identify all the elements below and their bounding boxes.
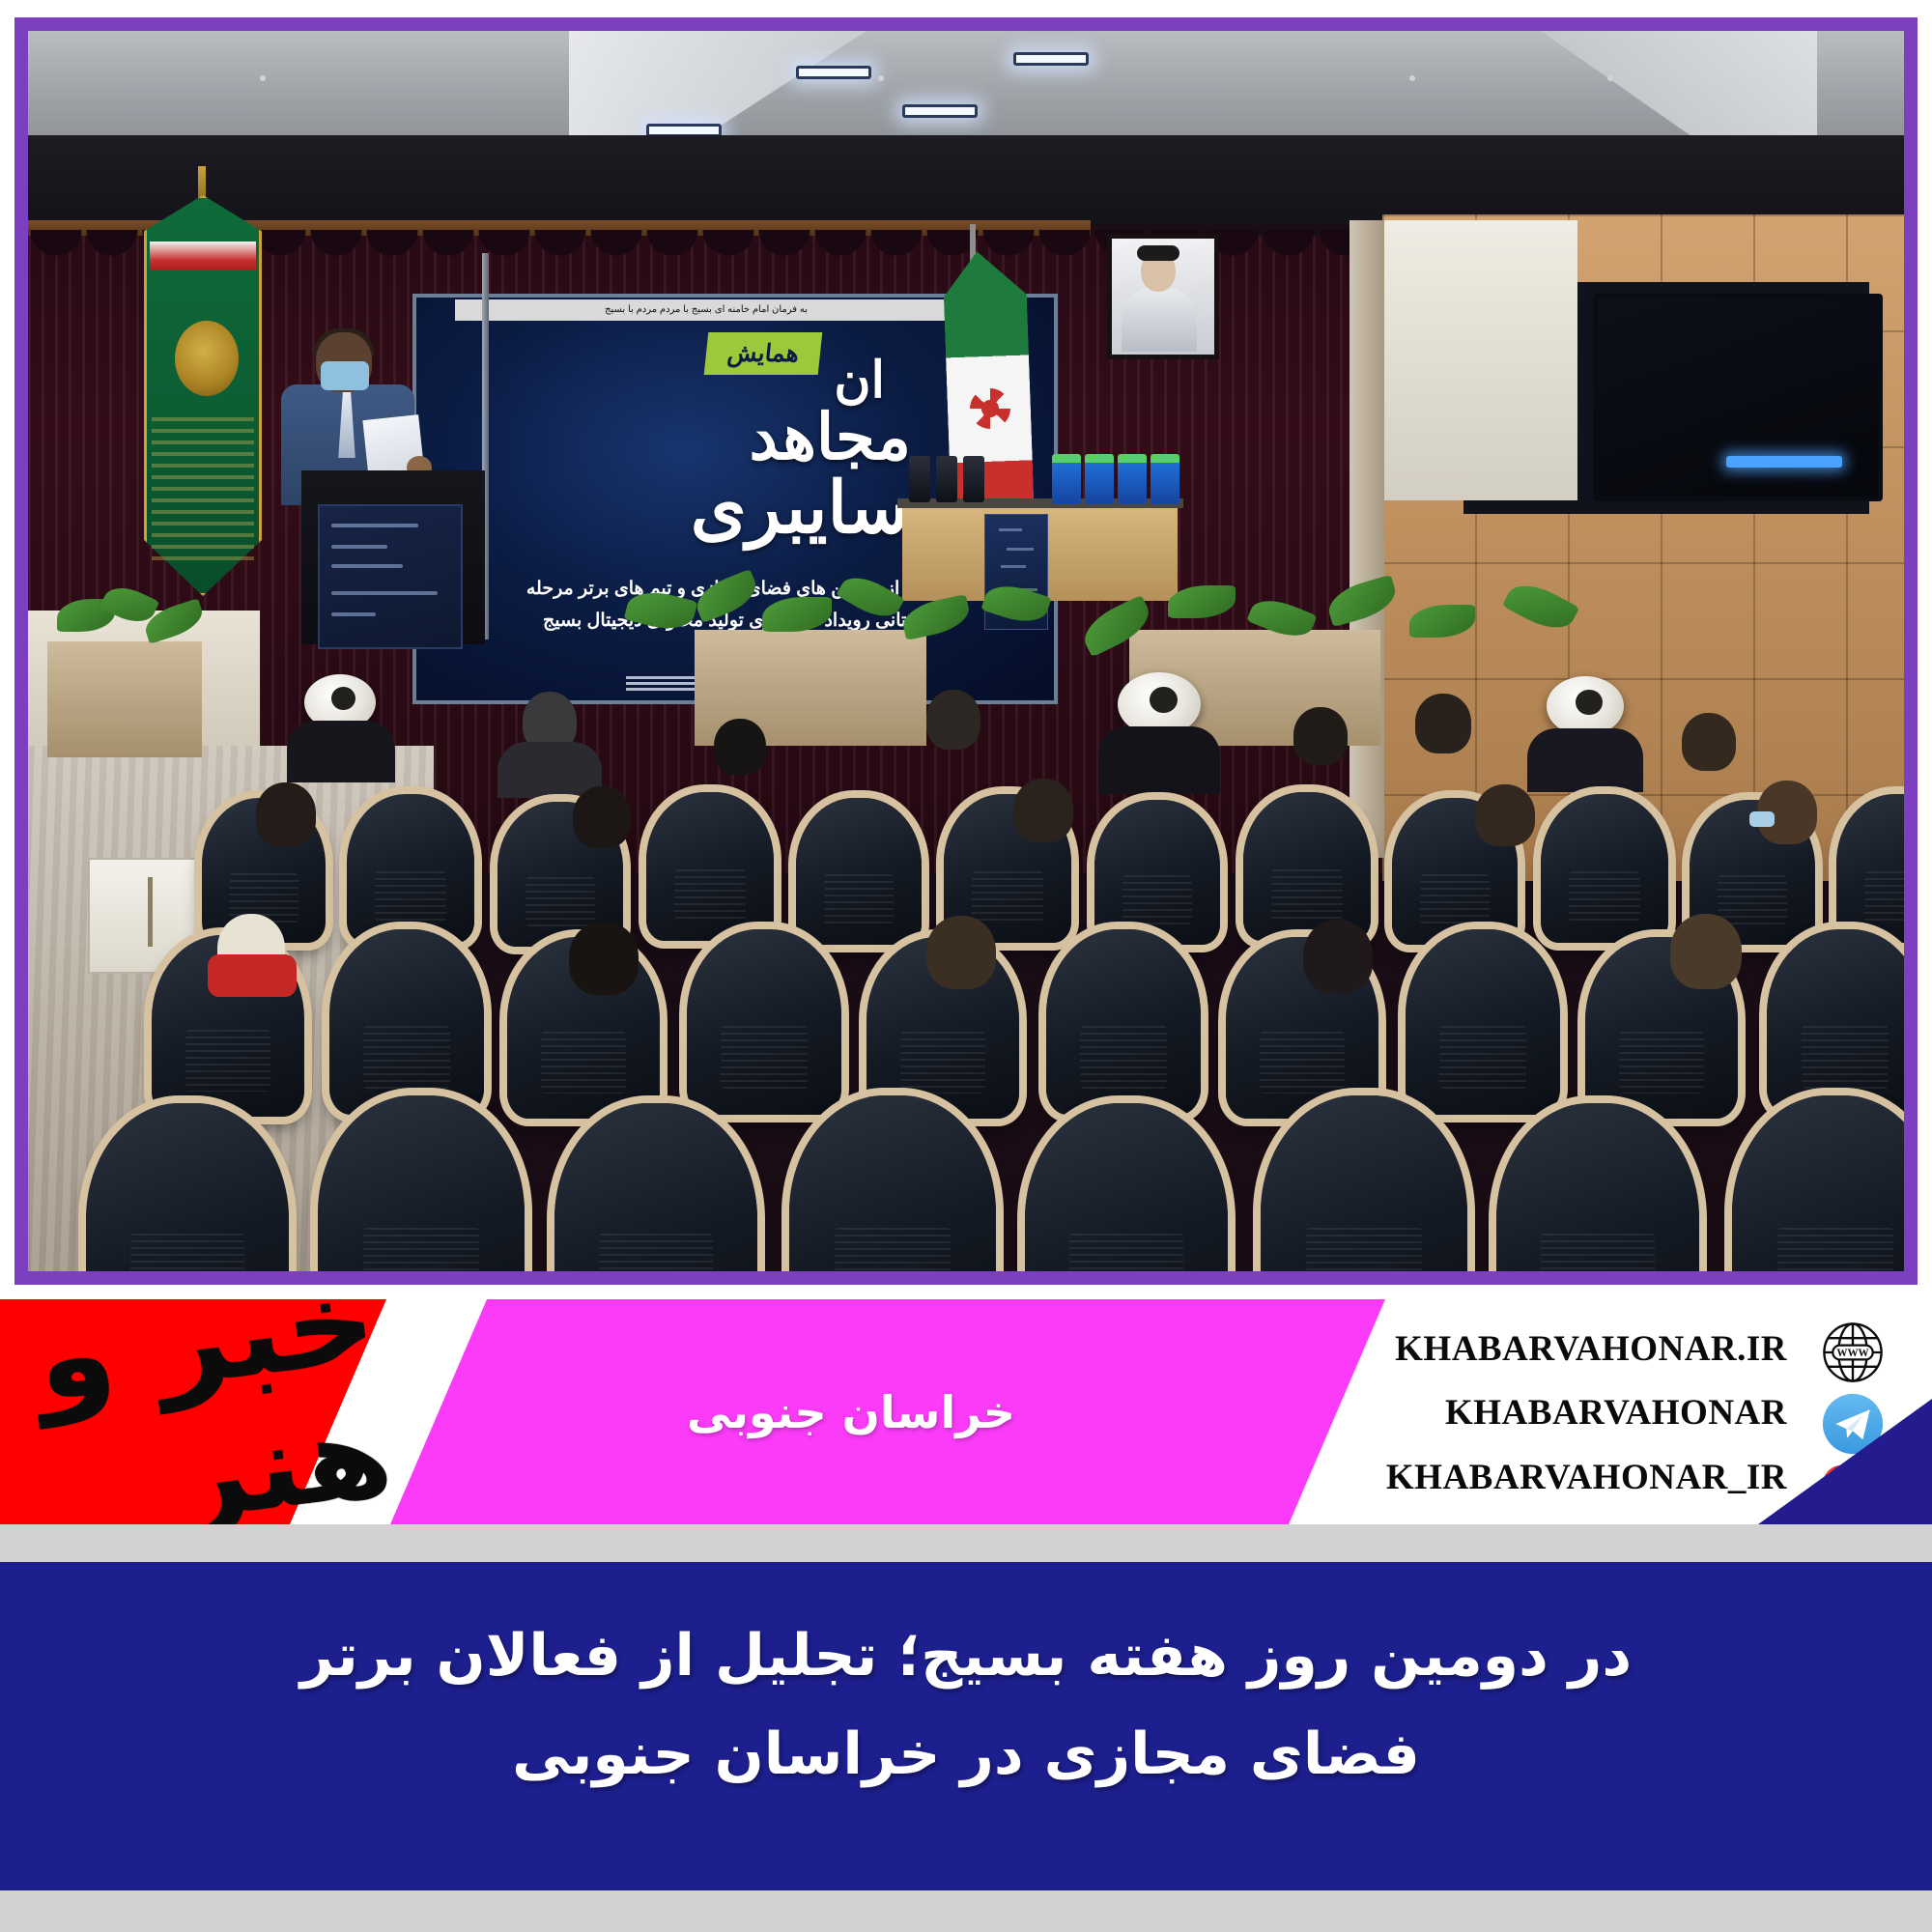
attendee-shoulders	[1527, 728, 1643, 792]
auditorium-chair	[347, 794, 474, 943]
attendee-head	[714, 719, 766, 775]
attendee-head	[573, 786, 631, 848]
gift-package-icon	[1085, 454, 1114, 504]
khabarvahonar-logo[interactable]: خبر و هنر	[0, 1299, 397, 1524]
bottom-strip	[0, 1890, 1932, 1932]
soffit-spot-icon	[1607, 75, 1613, 81]
headline-bar: در دومین روز هفته بسیج؛ تجلیل از فعالان …	[0, 1562, 1932, 1890]
plant-leaf-icon	[836, 568, 904, 626]
auditorium-chair	[1541, 794, 1668, 943]
auditorium-chair	[329, 929, 484, 1115]
banner-line-2: مجاهد	[416, 400, 911, 474]
plant-leaf-icon	[1168, 585, 1236, 618]
attendee-shoulders	[287, 721, 395, 782]
plant-leaf-icon	[624, 585, 698, 636]
plant-leaf-icon	[1323, 575, 1400, 627]
green-banner-band	[150, 241, 256, 270]
cream-wall-section	[1384, 220, 1577, 500]
attendee-head	[926, 916, 996, 989]
attendee-head	[1415, 694, 1471, 753]
attendee-head	[1670, 914, 1742, 989]
soffit-spot-icon	[878, 75, 884, 81]
tv-led-strip-icon	[1726, 456, 1842, 468]
attendee-head	[569, 922, 639, 995]
svg-text:WWW: WWW	[1836, 1348, 1868, 1359]
auditorium-chair	[1732, 1095, 1904, 1271]
plant-leaf-icon	[899, 594, 973, 640]
award-trophy-icon	[936, 456, 957, 502]
ceiling-light-icon	[902, 104, 978, 118]
portrait-robe	[1122, 288, 1197, 352]
plant-leaf-icon	[1502, 575, 1579, 639]
attendee-head	[1475, 784, 1535, 846]
auditorium-chair	[1836, 794, 1904, 943]
award-trophy-icon	[909, 456, 930, 502]
auditorium-chair	[554, 1103, 757, 1271]
headline-text: در دومین روز هفته بسیج؛ تجلیل از فعالان …	[174, 1606, 1758, 1804]
ceiling-light-icon	[796, 66, 871, 79]
banner-top-strip: به فرمان امام خامنه ای بسیج با مردم مردم…	[455, 299, 957, 321]
auditorium-chair	[1261, 1095, 1467, 1271]
photo-scene: به فرمان امام خامنه ای بسیج با مردم مردم…	[28, 31, 1904, 1271]
plant-leaf-icon	[762, 597, 832, 632]
auditorium-chair	[1767, 929, 1904, 1115]
attendee-shoulders	[1098, 726, 1220, 794]
turban-icon	[1547, 676, 1624, 736]
iran-flag-emblem-icon	[970, 388, 1010, 429]
plant-leaf-icon	[1409, 605, 1475, 638]
green-banner-emblem-icon	[175, 321, 239, 396]
auditorium-chair	[86, 1103, 289, 1271]
news-photo: به فرمان امام خامنه ای بسیج با مردم مردم…	[14, 17, 1918, 1285]
auditorium-chair	[646, 792, 774, 941]
plant-leaf-icon	[691, 569, 762, 623]
attendee-head	[208, 954, 297, 997]
face-mask-icon	[321, 361, 369, 390]
auditorium-chair	[1046, 929, 1201, 1115]
brand-link-telegram[interactable]: KHABARVAHONAR	[1445, 1392, 1787, 1434]
auditorium-chair	[318, 1095, 525, 1271]
brand-links-list: KHABARVAHONAR.IR KHABARVAHONAR KHABARVAH…	[1092, 1317, 1787, 1510]
auditorium-chair	[1496, 1103, 1699, 1271]
auditorium-chair	[1406, 929, 1560, 1115]
brand-link-instagram[interactable]: KHABARVAHONAR_IR	[1386, 1457, 1787, 1498]
face-mask-icon	[1749, 811, 1775, 827]
auditorium-chair	[1025, 1103, 1228, 1271]
auditorium-chair	[687, 929, 841, 1115]
auditorium-chair	[1094, 800, 1220, 945]
headline-line-2: فضای مجازی در خراسان جنوبی	[174, 1705, 1758, 1804]
portrait-turban	[1137, 245, 1179, 261]
attendee-head	[256, 782, 316, 846]
auditorium-chair	[1243, 792, 1371, 941]
award-trophy-icon	[963, 456, 984, 502]
gift-package-icon	[1151, 454, 1179, 504]
globe-www-icon[interactable]: WWW	[1817, 1317, 1889, 1388]
gift-package-icon	[1118, 454, 1147, 504]
divider-strip	[0, 1524, 1932, 1563]
green-banner-calligraphy	[152, 417, 254, 562]
brand-banner: خبر و هنر خراسان جنوبی KHABARVAHONAR.IR …	[0, 1299, 1932, 1524]
wall-television	[1593, 294, 1883, 501]
soffit-spot-icon	[260, 75, 266, 81]
attendee-head	[926, 690, 980, 750]
audience-seating	[28, 697, 1904, 1271]
attendee-head	[1013, 779, 1073, 842]
attendee-head	[1303, 920, 1373, 993]
attendee-head	[1682, 713, 1736, 771]
banner-line-3: سایبری	[416, 467, 909, 550]
gift-package-icon	[1052, 454, 1081, 504]
auditorium-chair	[796, 798, 922, 945]
brand-link-website[interactable]: KHABARVAHONAR.IR	[1395, 1328, 1787, 1370]
ceiling-light-icon	[1013, 52, 1089, 66]
headline-line-1: در دومین روز هفته بسیج؛ تجلیل از فعالان …	[174, 1606, 1758, 1705]
ceiling-soffit	[28, 135, 1904, 224]
soffit-spot-icon	[1409, 75, 1415, 81]
attendee-head	[1293, 707, 1348, 765]
plant-leaf-icon	[980, 579, 1051, 630]
auditorium-chair	[789, 1095, 996, 1271]
